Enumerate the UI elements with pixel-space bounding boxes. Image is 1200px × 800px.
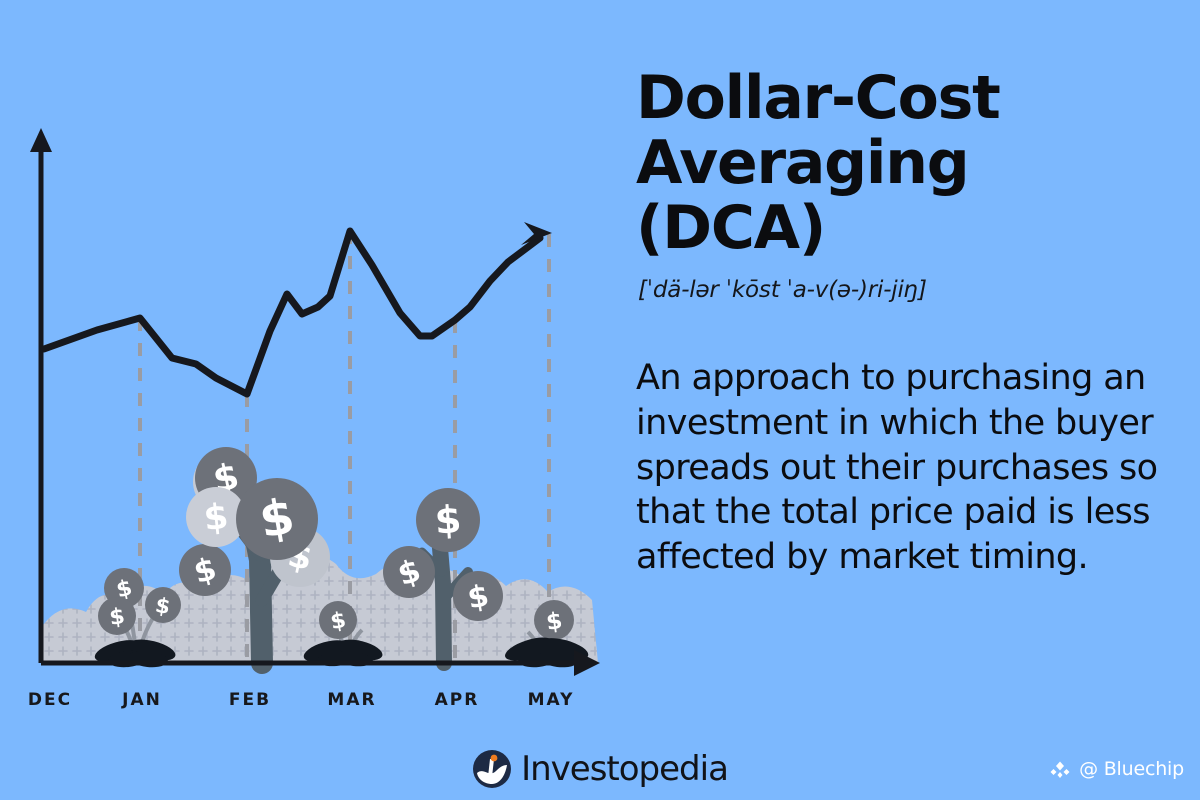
title-line-1: Dollar-Cost: [636, 63, 1000, 133]
attribution: @ Bluechip: [1048, 757, 1184, 781]
attribution-text: @ Bluechip: [1079, 758, 1184, 780]
pronunciation-text: [ˈdä-lər ˈkōst ˈa-v(ə-)ri-jiŋ]: [638, 277, 1178, 303]
svg-text:$: $: [202, 497, 230, 539]
brand-name: Investopedia: [521, 749, 728, 789]
x-axis-label-jan: JAN: [122, 690, 162, 710]
x-axis-label-feb: FEB: [229, 690, 271, 710]
page-title: Dollar-Cost Averaging (DCA): [636, 66, 1176, 260]
x-axis-label-dec: DEC: [28, 690, 72, 710]
dca-chart-illustration: $ $ $ $ $: [0, 0, 620, 730]
investopedia-logo-icon: [472, 749, 512, 789]
title-line-2: Averaging (DCA): [636, 128, 969, 263]
x-axis-label-mar: MAR: [327, 690, 376, 710]
y-axis-arrowhead: [30, 128, 52, 152]
price-trend-line: [44, 222, 552, 394]
x-axis-label-apr: APR: [435, 690, 480, 710]
definition-panel: Dollar-Cost Averaging (DCA) [ˈdä-lər ˈkō…: [636, 0, 1176, 800]
infographic-canvas: $ $ $ $ $: [0, 0, 1200, 800]
diamond-cluster-icon: [1048, 757, 1072, 781]
svg-text:$: $: [433, 497, 462, 543]
definition-text: An approach to purchasing an investment …: [636, 356, 1172, 580]
brand-logo: Investopedia: [0, 744, 1200, 794]
chart-svg: $ $ $ $ $: [0, 0, 620, 730]
x-axis-label-may: MAY: [528, 690, 575, 710]
